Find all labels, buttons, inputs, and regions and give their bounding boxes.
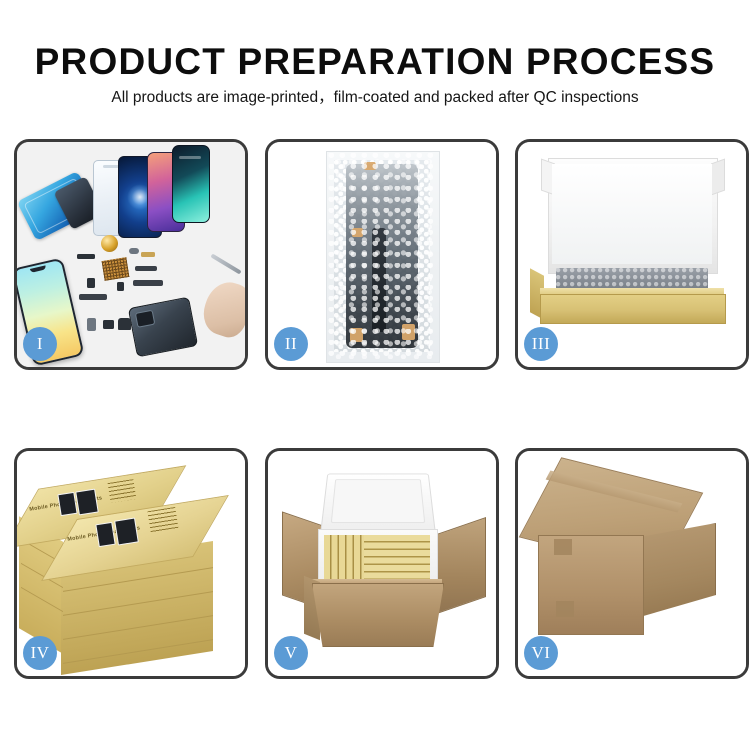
small-part (117, 282, 124, 291)
bubble-highlights (328, 153, 436, 359)
gold-coil-part (101, 235, 118, 252)
flex-cable-part (135, 266, 157, 271)
process-step-5: V (265, 448, 499, 679)
step-badge-4: IV (23, 636, 57, 670)
carton-tape-patch (556, 601, 574, 617)
tweezers-tool (210, 254, 241, 275)
carton-tape-patch (554, 539, 572, 555)
process-step-2: II (265, 139, 499, 370)
copper-mesh-part (102, 257, 130, 281)
foam-lid (320, 474, 436, 533)
process-step-grid: I II (0, 0, 750, 750)
kraft-boxes-horizontal (364, 535, 430, 579)
hand-holding-part (198, 277, 248, 342)
small-part (141, 252, 155, 257)
box-label-screen-image (75, 489, 99, 516)
process-step-3: III (515, 139, 749, 370)
teal-wave-phone-screen (172, 145, 210, 223)
step-badge-1: I (23, 327, 57, 361)
flex-cable-part (133, 280, 163, 286)
flex-cable-part (79, 294, 107, 300)
step-badge-6: VI (524, 636, 558, 670)
box-label-screen-image (57, 492, 77, 516)
process-step-1: I (14, 139, 248, 370)
kraft-box-front (540, 294, 726, 324)
camera-module-part (118, 318, 131, 330)
kraft-boxes-vertical (324, 535, 364, 579)
box-label-screen-image (95, 522, 115, 547)
small-part (103, 320, 114, 329)
carton-right-face (640, 523, 716, 617)
small-part (87, 318, 96, 331)
white-foam-sheet (552, 164, 712, 264)
carton-front (312, 583, 444, 647)
process-step-6: VI (515, 448, 749, 679)
box-label-specs (147, 507, 178, 533)
step-badge-3: III (524, 327, 558, 361)
step-badge-5: V (274, 636, 308, 670)
phone-back-housing (128, 297, 198, 358)
product-preparation-infographic: PRODUCT PREPARATION PROCESS All products… (0, 0, 750, 750)
step-badge-2: II (274, 327, 308, 361)
process-step-4: Mobile Phone Spare Parts Mobile Phone Sp… (14, 448, 248, 679)
small-part (77, 254, 95, 259)
box-label-screen-image (114, 518, 139, 546)
box-label-specs (108, 479, 137, 503)
small-part (87, 278, 95, 288)
small-part (129, 248, 139, 254)
